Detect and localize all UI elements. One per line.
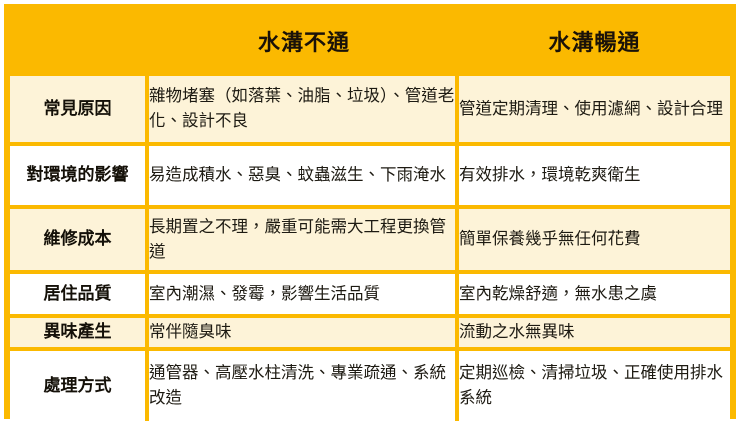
table-row: 對環境的影響 易造成積水、惡臭、蚊蟲滋生、下雨淹水 有效排水，環境乾爽衛生 <box>10 142 730 205</box>
comparison-table-page: 水溝不通 水溝暢通 常見原因 雜物堵塞（如落葉、油脂、垃圾）、管道老化、設計不良… <box>0 0 740 423</box>
cell-clear-maintenance-cost: 簡單保養幾乎無任何花費 <box>459 205 730 270</box>
header-column-clear: 水溝暢通 <box>459 10 730 72</box>
cell-blocked-treatment-method: 通管器、高壓水柱清洗、專業疏通、系統改造 <box>149 347 459 421</box>
header-row: 水溝不通 水溝暢通 <box>10 10 730 72</box>
cell-clear-living-quality: 室內乾燥舒適，無水患之虞 <box>459 270 730 314</box>
table-frame: 水溝不通 水溝暢通 常見原因 雜物堵塞（如落葉、油脂、垃圾）、管道老化、設計不良… <box>4 4 736 419</box>
row-label-odor: 異味產生 <box>10 314 149 347</box>
row-label-environmental-impact: 對環境的影響 <box>10 142 149 205</box>
table-header: 水溝不通 水溝暢通 <box>10 10 730 72</box>
table-row: 常見原因 雜物堵塞（如落葉、油脂、垃圾）、管道老化、設計不良 管道定期清理、使用… <box>10 72 730 142</box>
table-body: 常見原因 雜物堵塞（如落葉、油脂、垃圾）、管道老化、設計不良 管道定期清理、使用… <box>10 72 730 421</box>
table-row: 維修成本 長期置之不理，嚴重可能需大工程更換管道 簡單保養幾乎無任何花費 <box>10 205 730 270</box>
row-label-maintenance-cost: 維修成本 <box>10 205 149 270</box>
comparison-table: 水溝不通 水溝暢通 常見原因 雜物堵塞（如落葉、油脂、垃圾）、管道老化、設計不良… <box>10 10 730 421</box>
table-row: 處理方式 通管器、高壓水柱清洗、專業疏通、系統改造 定期巡檢、清掃垃圾、正確使用… <box>10 347 730 421</box>
cell-clear-environmental-impact: 有效排水，環境乾爽衛生 <box>459 142 730 205</box>
cell-blocked-odor: 常伴隨臭味 <box>149 314 459 347</box>
cell-blocked-living-quality: 室內潮濕、發霉，影響生活品質 <box>149 270 459 314</box>
cell-blocked-common-causes: 雜物堵塞（如落葉、油脂、垃圾）、管道老化、設計不良 <box>149 72 459 142</box>
cell-blocked-maintenance-cost: 長期置之不理，嚴重可能需大工程更換管道 <box>149 205 459 270</box>
header-column-blocked: 水溝不通 <box>149 10 459 72</box>
table-row: 異味產生 常伴隨臭味 流動之水無異味 <box>10 314 730 347</box>
cell-clear-common-causes: 管道定期清理、使用濾網、設計合理 <box>459 72 730 142</box>
cell-clear-odor: 流動之水無異味 <box>459 314 730 347</box>
cell-clear-treatment-method: 定期巡檢、清掃垃圾、正確使用排水系統 <box>459 347 730 421</box>
header-corner-cell <box>10 10 149 72</box>
row-label-common-causes: 常見原因 <box>10 72 149 142</box>
row-label-living-quality: 居住品質 <box>10 270 149 314</box>
table-row: 居住品質 室內潮濕、發霉，影響生活品質 室內乾燥舒適，無水患之虞 <box>10 270 730 314</box>
row-label-treatment-method: 處理方式 <box>10 347 149 421</box>
cell-blocked-environmental-impact: 易造成積水、惡臭、蚊蟲滋生、下雨淹水 <box>149 142 459 205</box>
